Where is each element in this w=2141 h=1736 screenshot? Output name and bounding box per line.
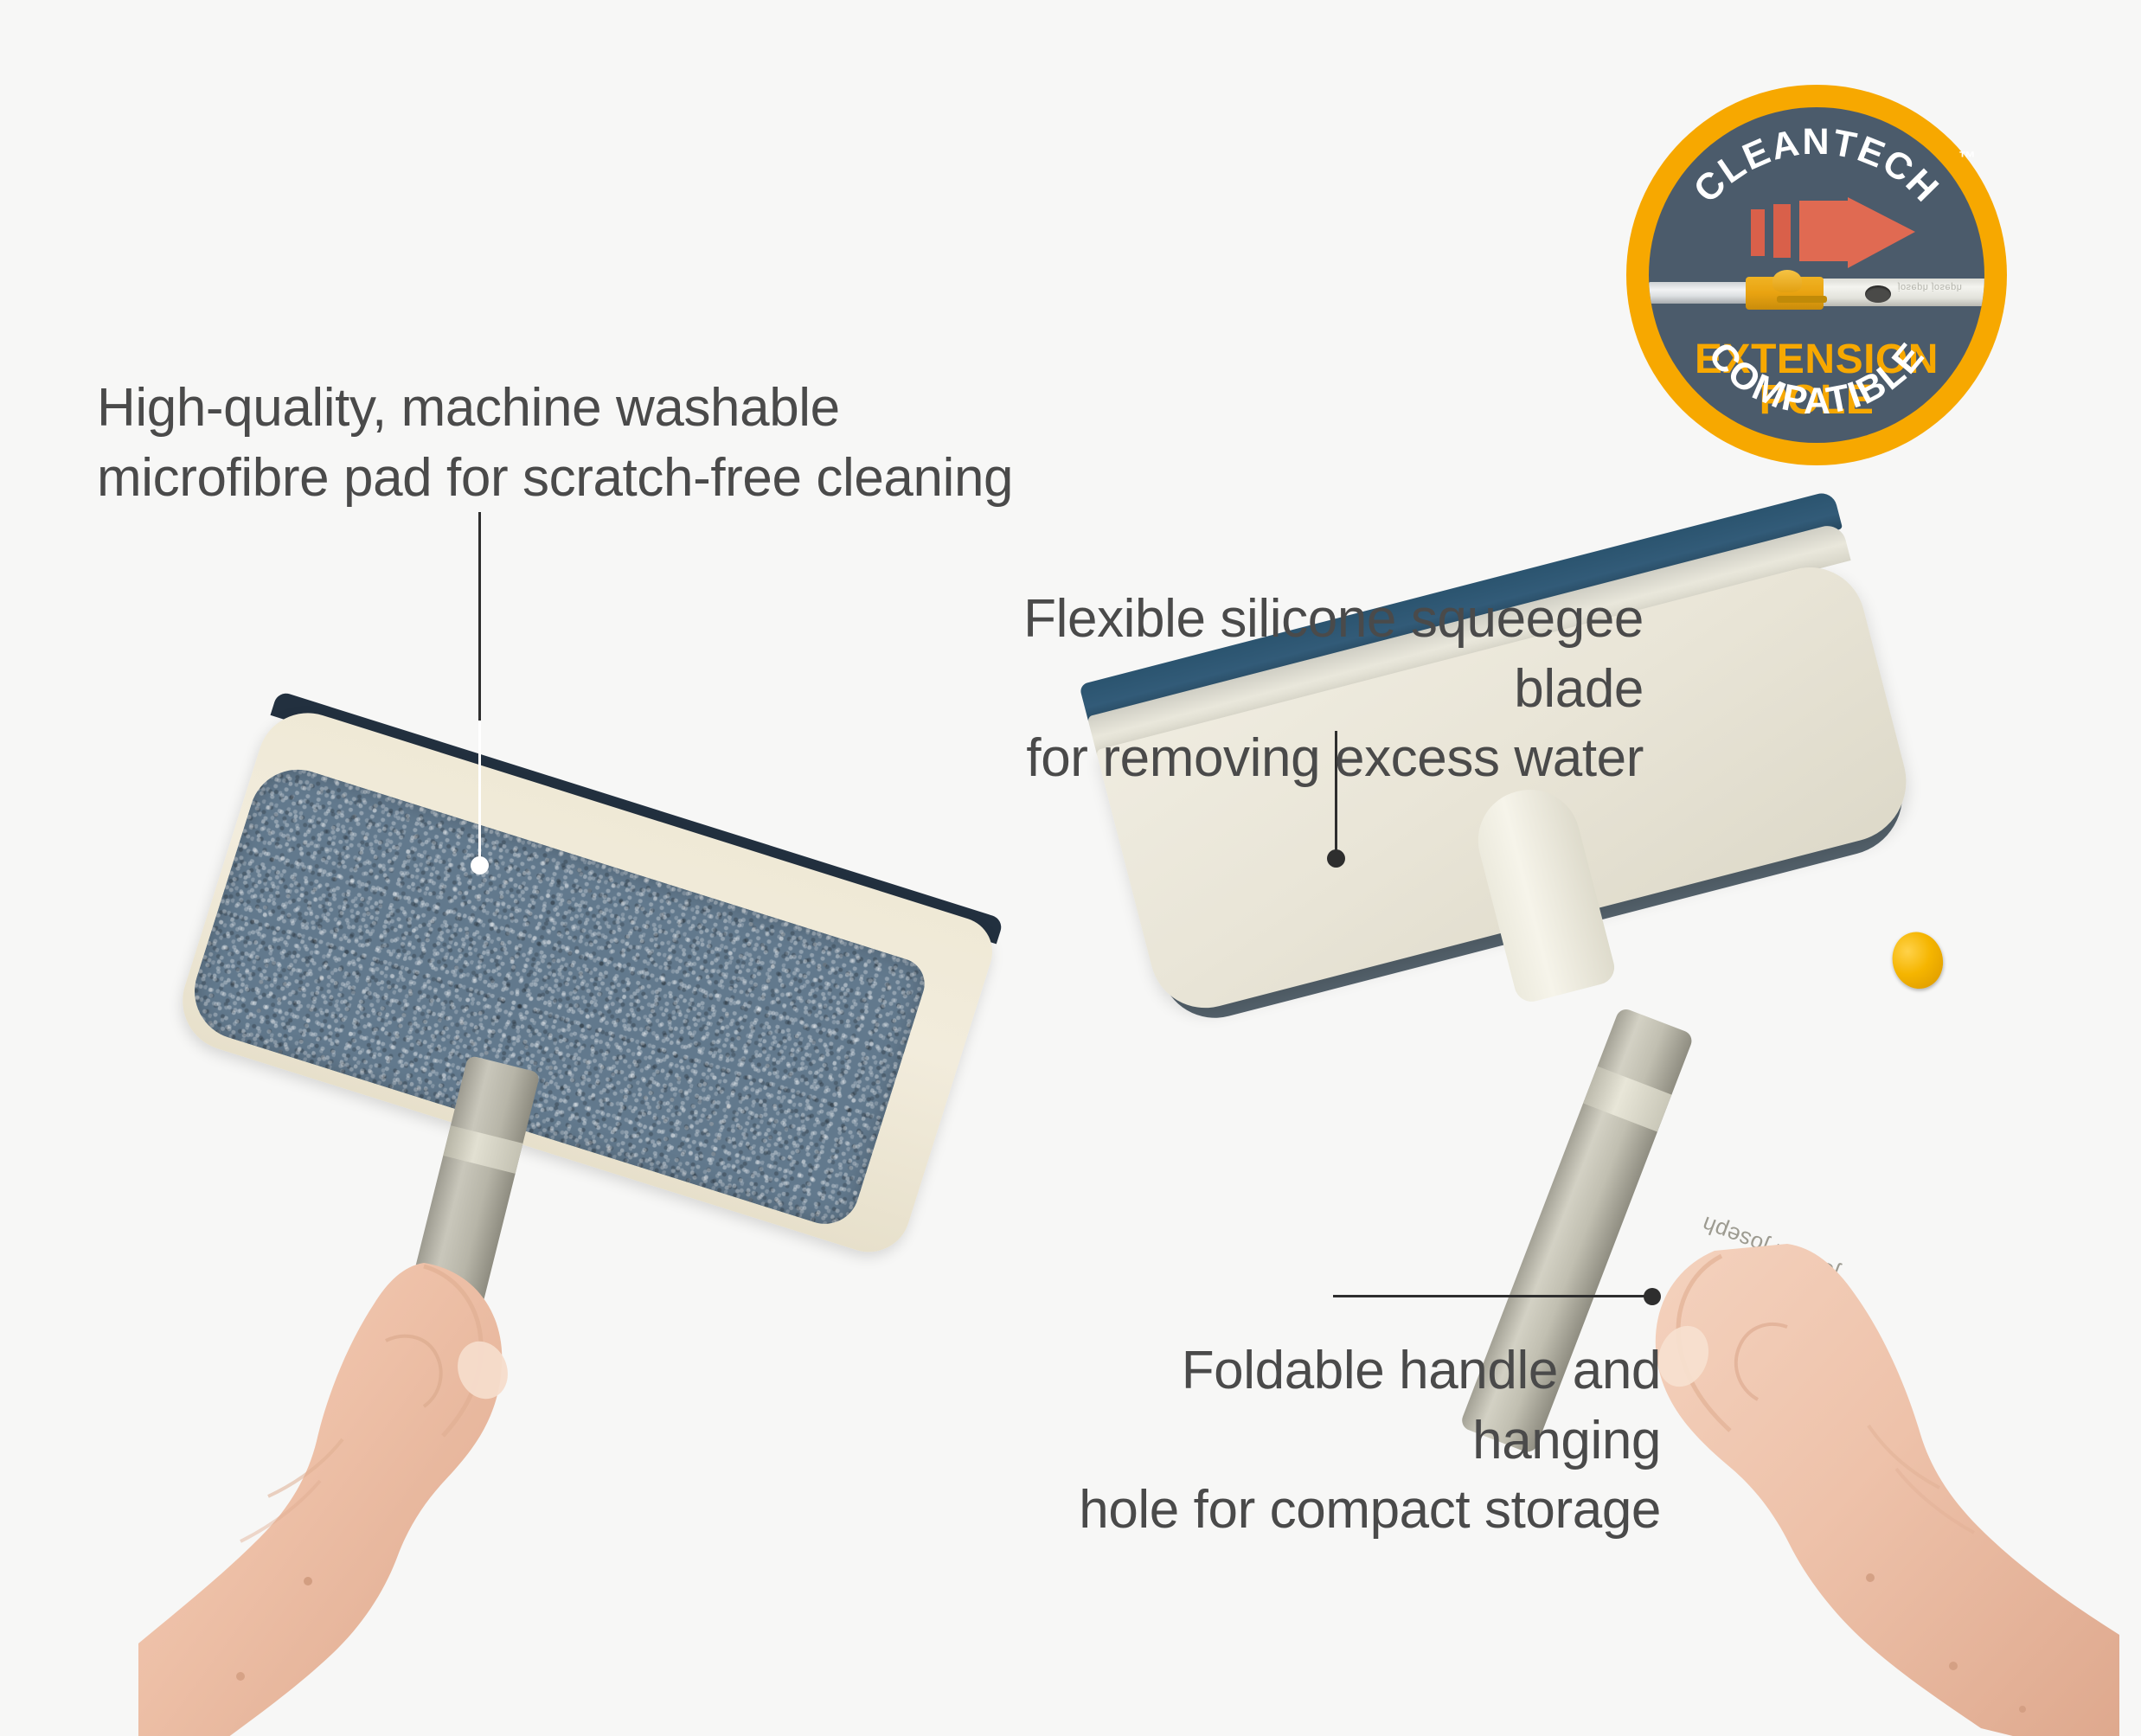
leader-line-microfibre-over-pad xyxy=(478,721,481,869)
microfibre-pad xyxy=(183,758,932,1233)
infographic-canvas: joseph joseph High-qua xyxy=(0,0,2141,1736)
squeegee-head-body-left xyxy=(170,701,1001,1263)
hinge-release-button[interactable] xyxy=(1887,926,1950,994)
caption-microfibre-pad: High-quality, machine washable microfibr… xyxy=(97,374,1013,513)
caption-foldable-handle: Foldable handle and hanging hole for com… xyxy=(1003,1336,1661,1546)
badge-arc-top-text: CLEANTECH xyxy=(1686,121,1947,211)
trademark-symbol: ™ xyxy=(1958,149,1976,169)
hand-holding-left-squeegee xyxy=(138,1237,623,1736)
leader-dot-microfibre xyxy=(471,856,489,874)
badge-arc-bottom-text: COMPATIBLE xyxy=(1700,335,1933,422)
leader-dot-foldable xyxy=(1644,1288,1661,1305)
badge-arc-text: CLEANTECH COMPATIBLE xyxy=(1626,85,2007,465)
handle-band-left xyxy=(443,1125,522,1174)
product-squeegee-pad-side xyxy=(166,690,1004,1274)
leader-line-microfibre xyxy=(478,512,481,722)
caption-silicone-blade: Flexible silicone squeegee blade for rem… xyxy=(946,585,1644,794)
hand-holding-right-squeegee xyxy=(1635,1228,2119,1736)
leader-line-foldable xyxy=(1333,1295,1653,1297)
leader-dot-silicone xyxy=(1327,849,1345,868)
handle-band-right xyxy=(1583,1067,1671,1132)
cleantech-extension-pole-badge: joseph joseph EXTENSION POLE CLEANTECH C… xyxy=(1626,85,2007,465)
